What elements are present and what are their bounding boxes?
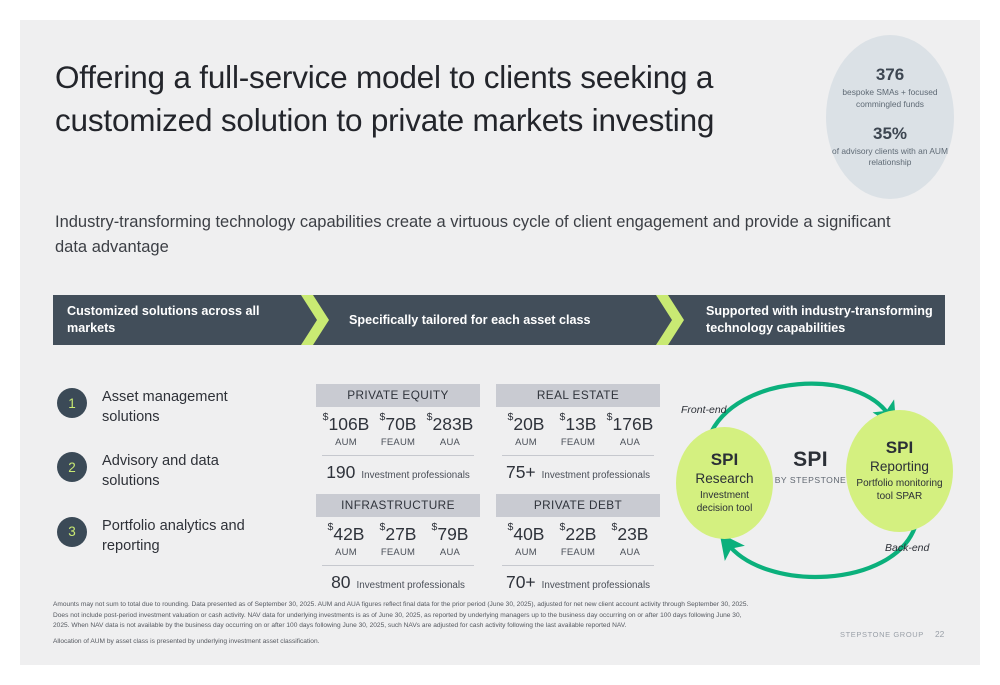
currency-symbol: $ [380, 521, 386, 533]
spi-center-label: SPI BY STEPSTONE [773, 448, 848, 485]
professionals-label: Investment professionals [357, 580, 465, 591]
list-item: 2 Advisory and data solutions [57, 451, 297, 491]
metric-label: AUM [500, 437, 552, 448]
currency-symbol: $ [560, 411, 566, 423]
asset-card-metrics: $40B AUM $22B FEAUM $23B AUA [496, 517, 660, 558]
page-number: 22 [935, 629, 944, 639]
metric-feaum: $70B FEAUM [372, 415, 424, 448]
professionals-row: 190 Investment professionals [316, 456, 480, 483]
metric-value: $27B [372, 525, 424, 543]
metric-value: $176B [604, 415, 656, 433]
spi-center-subtitle: BY STEPSTONE [773, 475, 848, 485]
stat-2-value: 35% [873, 124, 907, 144]
metric-aua: $176B AUA [604, 415, 656, 448]
solutions-list: 1 Asset management solutions 2 Advisory … [57, 387, 297, 580]
asset-card-metrics: $42B AUM $27B FEAUM $79B AUA [316, 517, 480, 558]
metric-value: $42B [320, 525, 372, 543]
metric-value: $40B [500, 525, 552, 543]
spi-research-description: Investment decision tool [676, 490, 773, 516]
asset-card-metrics: $106B AUM $70B FEAUM $283B AUA [316, 407, 480, 448]
metric-label: AUA [424, 547, 476, 558]
professionals-row: 75+ Investment professionals [496, 456, 660, 483]
chevron-arrow-icon-2 [656, 295, 690, 345]
spi-center-title: SPI [773, 448, 848, 472]
asset-card-title: INFRASTRUCTURE [316, 494, 480, 517]
chevron-arrow-icon-1 [301, 295, 335, 345]
asset-card-private-equity: PRIVATE EQUITY $106B AUM $70B FEAUM $283… [316, 384, 480, 483]
currency-symbol: $ [508, 521, 514, 533]
professionals-count: 190 [326, 462, 355, 483]
banner-segment-1: Customized solutions across all markets [53, 295, 303, 345]
metric-aua: $23B AUA [604, 525, 656, 558]
metric-value: $22B [552, 525, 604, 543]
spi-research-title: SPI [711, 450, 738, 469]
metric-amount: 70B [385, 414, 416, 434]
banner-segment-2: Specifically tailored for each asset cla… [303, 295, 658, 345]
banner-segment-3: Supported with industry-transforming tec… [658, 295, 945, 345]
spi-reporting-subtitle: Reporting [870, 459, 929, 475]
professionals-count: 70+ [506, 572, 536, 593]
currency-symbol: $ [323, 411, 329, 423]
metric-value: $283B [424, 415, 476, 433]
metric-amount: 176B [612, 414, 653, 434]
currency-symbol: $ [560, 521, 566, 533]
asset-card-title: PRIVATE DEBT [496, 494, 660, 517]
metric-label: FEAUM [372, 437, 424, 448]
list-item-number-badge: 2 [57, 452, 87, 482]
banner-segment-3-label: Supported with industry-transforming tec… [706, 303, 945, 337]
metric-label: FEAUM [552, 547, 604, 558]
metric-value: $70B [372, 415, 424, 433]
banner-segment-1-label: Customized solutions across all markets [67, 303, 303, 337]
metric-feaum: $22B FEAUM [552, 525, 604, 558]
currency-symbol: $ [328, 521, 334, 533]
footnote-line-2: Allocation of AUM by asset class is pres… [53, 637, 753, 648]
metric-amount: 13B [565, 414, 596, 434]
metric-value: $79B [424, 525, 476, 543]
asset-card-real-estate: REAL ESTATE $20B AUM $13B FEAUM $176B AU… [496, 384, 660, 483]
currency-symbol: $ [427, 411, 433, 423]
metric-amount: 40B [513, 524, 544, 544]
asset-card-infrastructure: INFRASTRUCTURE $42B AUM $27B FEAUM $79B … [316, 494, 480, 593]
metric-amount: 27B [385, 524, 416, 544]
metric-label: AUA [604, 437, 656, 448]
metric-feaum: $27B FEAUM [372, 525, 424, 558]
back-end-label: Back-end [885, 542, 929, 554]
list-item-number-badge: 3 [57, 517, 87, 547]
spi-cycle-diagram: SPI Research Investment decision tool SP… [665, 375, 955, 590]
metric-value: $13B [552, 415, 604, 433]
front-end-label: Front-end [681, 404, 727, 416]
professionals-label: Investment professionals [542, 580, 650, 591]
metric-label: FEAUM [552, 437, 604, 448]
asset-card-metrics: $20B AUM $13B FEAUM $176B AUA [496, 407, 660, 448]
professionals-count: 75+ [506, 462, 536, 483]
metric-aum: $40B AUM [500, 525, 552, 558]
metric-aum: $42B AUM [320, 525, 372, 558]
list-item: 3 Portfolio analytics and reporting [57, 516, 297, 556]
professionals-count: 80 [331, 572, 350, 593]
list-item-number-badge: 1 [57, 388, 87, 418]
footnote-line-1: Amounts may not sum to total due to roun… [53, 600, 753, 632]
metric-label: FEAUM [372, 547, 424, 558]
metric-aum: $106B AUM [320, 415, 372, 448]
currency-symbol: $ [432, 521, 438, 533]
professionals-row: 80 Investment professionals [316, 566, 480, 593]
list-item: 1 Asset management solutions [57, 387, 297, 427]
page-title: Offering a full-service model to clients… [55, 56, 795, 142]
metric-amount: 20B [513, 414, 544, 434]
metric-amount: 106B [328, 414, 369, 434]
metric-amount: 283B [432, 414, 473, 434]
metric-label: AUM [320, 547, 372, 558]
metric-feaum: $13B FEAUM [552, 415, 604, 448]
metric-amount: 23B [617, 524, 648, 544]
spi-reporting-title: SPI [886, 438, 913, 457]
professionals-label: Investment professionals [361, 470, 469, 481]
currency-symbol: $ [380, 411, 386, 423]
professionals-row: 70+ Investment professionals [496, 566, 660, 593]
footnotes: Amounts may not sum to total due to roun… [53, 600, 753, 653]
footer-brand: STEPSTONE GROUP [840, 630, 924, 639]
page-subtitle: Industry-transforming technology capabil… [55, 210, 925, 260]
metric-label: AUM [320, 437, 372, 448]
metric-label: AUM [500, 547, 552, 558]
metric-amount: 22B [565, 524, 596, 544]
spi-research-subtitle: Research [695, 471, 753, 487]
metric-amount: 79B [437, 524, 468, 544]
slide-canvas: Offering a full-service model to clients… [20, 20, 980, 665]
metric-aua: $283B AUA [424, 415, 476, 448]
professionals-label: Investment professionals [542, 470, 650, 481]
list-item-label: Advisory and data solutions [102, 451, 270, 491]
metric-value: $23B [604, 525, 656, 543]
asset-card-title: PRIVATE EQUITY [316, 384, 480, 407]
stat-circle-badge: 376 bespoke SMAs + focused commingled fu… [826, 35, 954, 199]
spi-reporting-bubble: SPI Reporting Portfolio monitoring tool … [846, 410, 953, 532]
list-item-label: Portfolio analytics and reporting [102, 516, 270, 556]
metric-label: AUA [604, 547, 656, 558]
metric-aua: $79B AUA [424, 525, 476, 558]
metric-value: $20B [500, 415, 552, 433]
stat-1-description: bespoke SMAs + focused commingled funds [832, 87, 948, 110]
currency-symbol: $ [508, 411, 514, 423]
currency-symbol: $ [607, 411, 613, 423]
asset-card-private-debt: PRIVATE DEBT $40B AUM $22B FEAUM $23B AU… [496, 494, 660, 593]
metric-value: $106B [320, 415, 372, 433]
metric-label: AUA [424, 437, 476, 448]
stat-2-description: of advisory clients with an AUM relation… [832, 146, 948, 169]
metric-aum: $20B AUM [500, 415, 552, 448]
list-item-label: Asset management solutions [102, 387, 270, 427]
asset-card-title: REAL ESTATE [496, 384, 660, 407]
banner-segment-2-label: Specifically tailored for each asset cla… [349, 312, 591, 329]
currency-symbol: $ [612, 521, 618, 533]
stat-1-value: 376 [876, 65, 904, 85]
spi-reporting-description: Portfolio monitoring tool SPAR [846, 478, 953, 504]
spi-research-bubble: SPI Research Investment decision tool [676, 427, 773, 539]
metric-amount: 42B [333, 524, 364, 544]
process-banner: Customized solutions across all markets … [53, 295, 945, 345]
